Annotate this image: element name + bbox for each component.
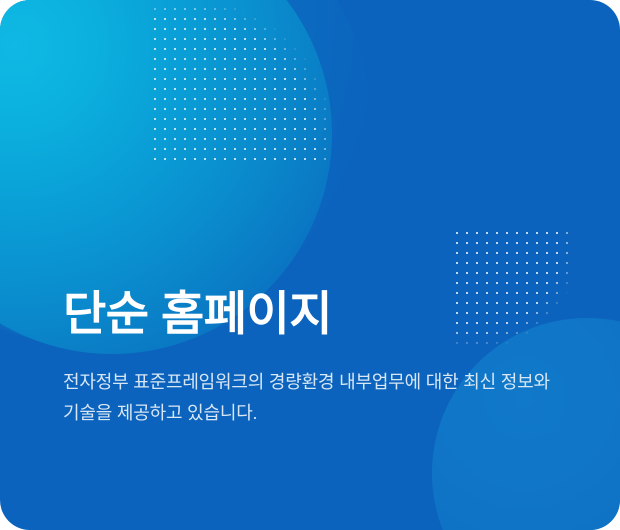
page-subtitle: 전자정부 표준프레임워크의 경량환경 내부업무에 대한 최신 정보와 기술을 제… — [63, 341, 563, 429]
hero-banner: 단순 홈페이지 전자정부 표준프레임워크의 경량환경 내부업무에 대한 최신 정… — [0, 0, 620, 530]
hero-content: 단순 홈페이지 전자정부 표준프레임워크의 경량환경 내부업무에 대한 최신 정… — [63, 286, 572, 429]
page-title: 단순 홈페이지 — [63, 286, 572, 341]
dot-grid-top-pattern — [150, 0, 330, 164]
decoration-layer — [0, 0, 620, 530]
